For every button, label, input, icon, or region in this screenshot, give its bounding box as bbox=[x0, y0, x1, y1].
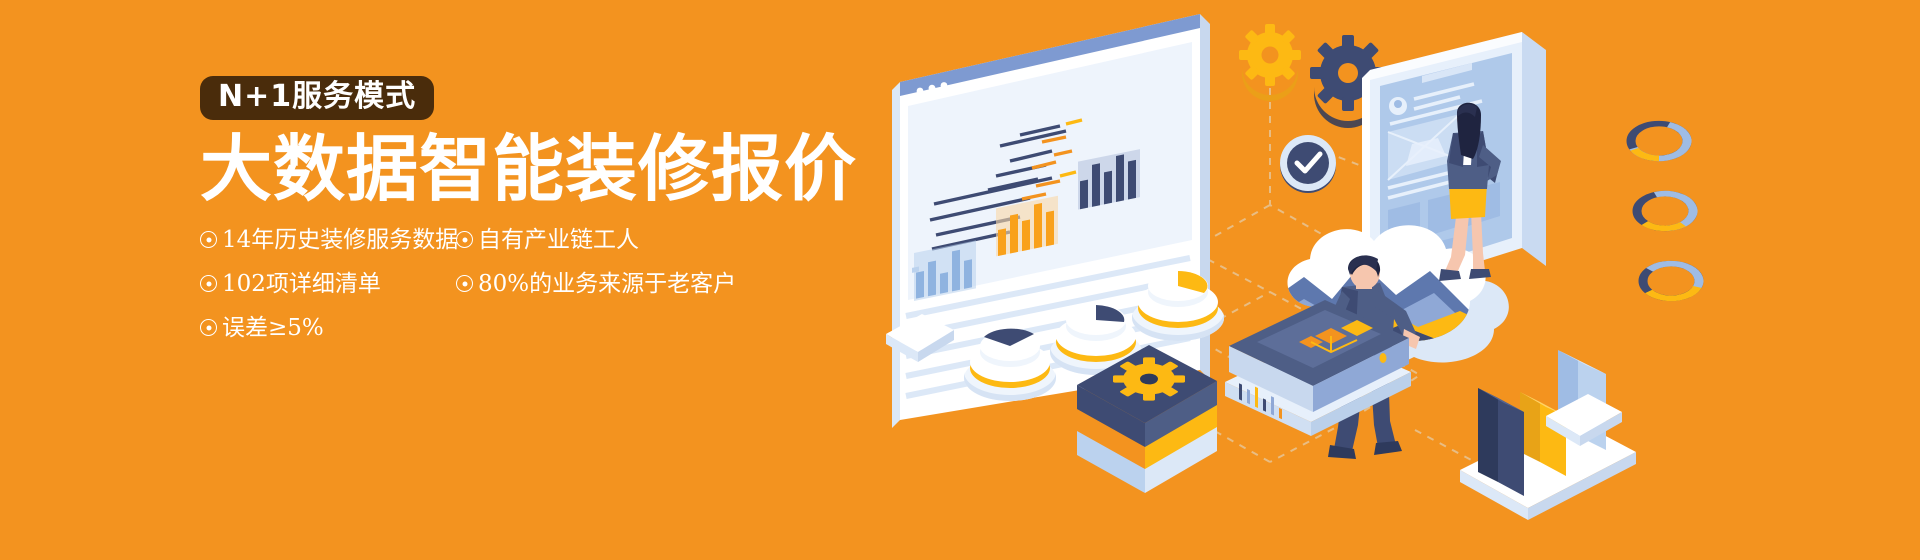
promo-banner: N+1服务模式 大数据智能装修报价 14年历史装修服务数据 102项详细清单 误… bbox=[0, 0, 1920, 560]
banner-text-block: N+1服务模式 大数据智能装修报价 14年历史装修服务数据 102项详细清单 误… bbox=[200, 76, 940, 406]
list-item: 自有产业链工人 bbox=[456, 229, 639, 252]
list-item: 误差≥5% bbox=[200, 317, 324, 340]
check-badge-icon bbox=[1275, 130, 1341, 196]
list-item-label: 误差≥5% bbox=[222, 315, 324, 341]
pie-stack-3 bbox=[1132, 271, 1224, 341]
pie-stack-1 bbox=[964, 329, 1056, 401]
list-item: 102项详细清单 bbox=[200, 273, 381, 296]
server-box bbox=[1215, 290, 1415, 440]
database-hex bbox=[1065, 335, 1235, 495]
plate-right bbox=[1540, 390, 1620, 446]
list-item: 14年历史装修服务数据 bbox=[200, 229, 458, 252]
plate-left bbox=[880, 310, 950, 360]
isometric-big-data-scene bbox=[1020, 0, 1920, 560]
donut-ring-3 bbox=[1632, 257, 1711, 306]
circle-dot-icon bbox=[456, 231, 473, 248]
donut-rings-group bbox=[1615, 115, 1705, 305]
circle-dot-icon bbox=[456, 275, 473, 292]
businesswoman bbox=[1415, 105, 1525, 295]
gear-yellow-icon bbox=[1235, 20, 1305, 90]
list-item: 80%的业务来源于老客户 bbox=[456, 273, 736, 296]
donut-ring-1 bbox=[1623, 119, 1695, 164]
page-title: 大数据智能装修报价 bbox=[200, 132, 940, 207]
list-item-label: 自有产业链工人 bbox=[478, 227, 639, 253]
list-item-label: 102项详细清单 bbox=[222, 271, 381, 297]
circle-dot-icon bbox=[200, 231, 217, 248]
service-model-badge: N+1服务模式 bbox=[200, 76, 434, 120]
list-item-label: 80%的业务来源于老客户 bbox=[478, 271, 736, 297]
list-item-label: 14年历史装修服务数据 bbox=[222, 227, 458, 253]
circle-dot-icon bbox=[200, 319, 217, 336]
donut-ring-2 bbox=[1626, 187, 1705, 236]
circle-dot-icon bbox=[200, 275, 217, 292]
